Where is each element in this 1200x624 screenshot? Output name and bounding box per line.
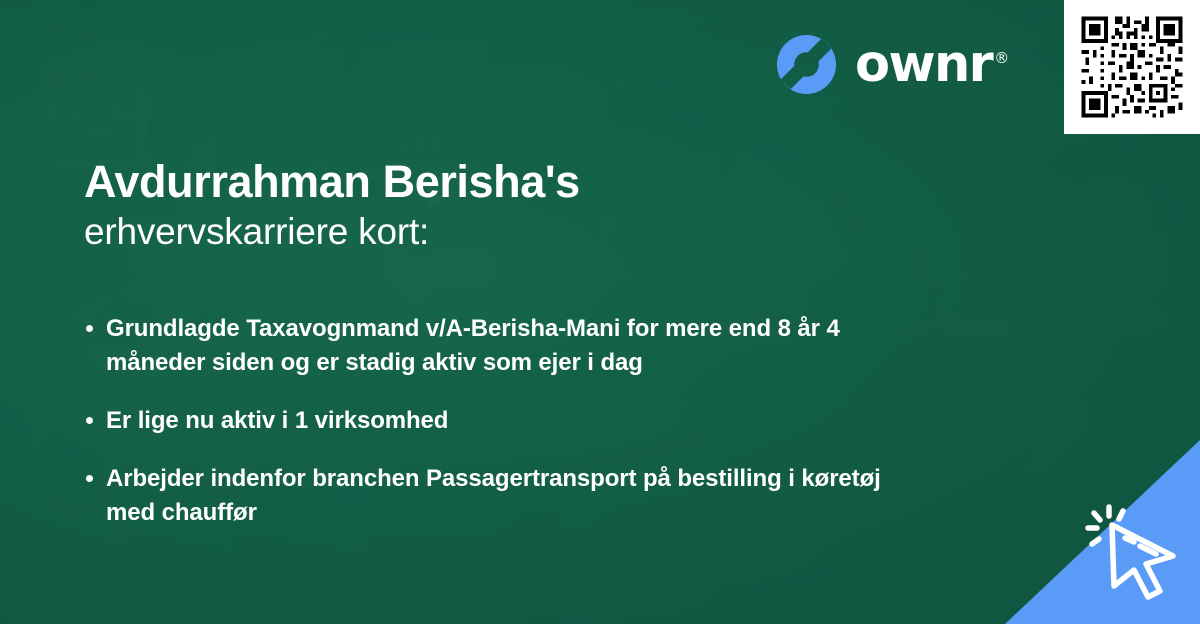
ownr-swirl-logo-icon (775, 33, 838, 96)
bullet-icon (86, 475, 93, 482)
ownr-wordmark: ownr® (855, 39, 1009, 90)
list-item-text: Arbejder indenfor branchen Passagertrans… (106, 465, 881, 526)
bullet-icon (86, 417, 93, 424)
list-item-text: Er lige nu aktiv i 1 virksomhed (106, 407, 448, 434)
page-title: Avdurrahman Berisha's erhvervskarriere k… (84, 156, 944, 254)
career-facts-list: Grundlagde Taxavognmand v/A-Berisha-Mani… (84, 312, 964, 530)
subtitle: erhvervskarriere kort: (84, 210, 944, 254)
list-item-text: Grundlagde Taxavognmand v/A-Berisha-Mani… (106, 315, 840, 376)
business-card-banner: ownr® (0, 0, 1200, 624)
person-name: Avdurrahman Berisha's (84, 156, 944, 208)
bullet-icon (86, 325, 93, 332)
qr-code[interactable] (1064, 0, 1200, 134)
click-cursor-icon (1076, 494, 1188, 606)
list-item: Grundlagde Taxavognmand v/A-Berisha-Mani… (84, 312, 906, 380)
ownr-logo[interactable]: ownr® (775, 33, 1009, 96)
registered-trademark-icon: ® (994, 49, 1009, 67)
list-item: Arbejder indenfor branchen Passagertrans… (84, 462, 906, 530)
list-item: Er lige nu aktiv i 1 virksomhed (84, 404, 906, 438)
